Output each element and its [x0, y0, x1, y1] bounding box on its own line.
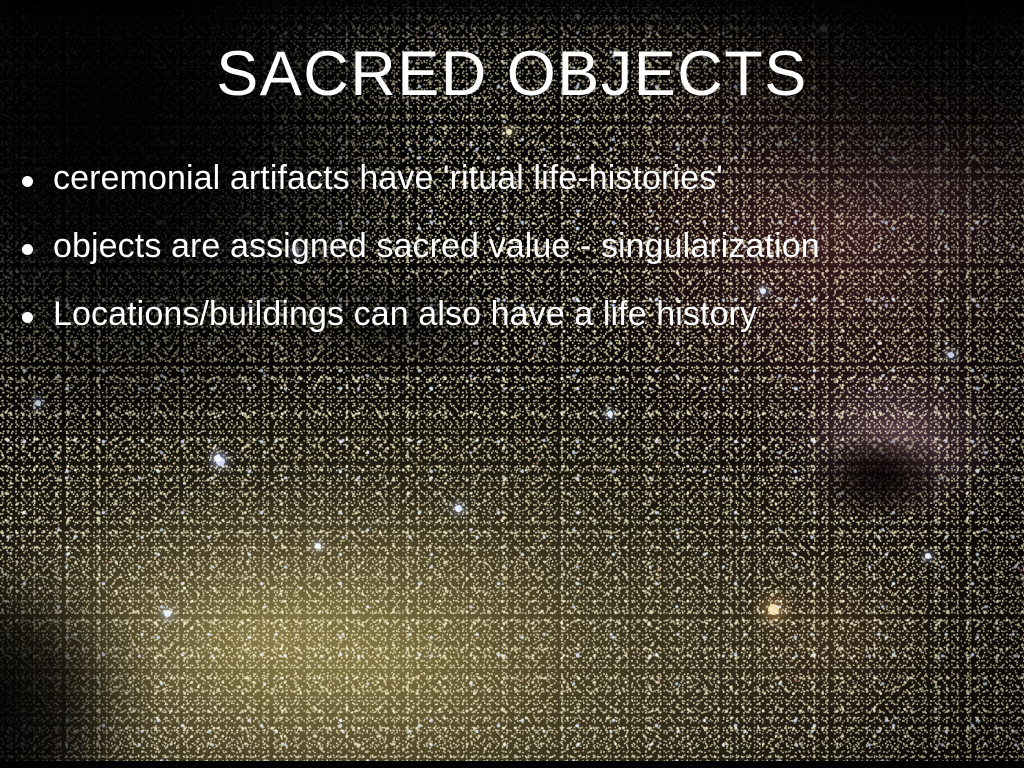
bullet-item-label: ceremonial artifacts have 'ritual life-h… [53, 158, 723, 199]
bullet-dot-icon [22, 244, 33, 255]
bullet-list-item: objects are assigned sacred value - sing… [0, 226, 1024, 294]
bullet-list: ceremonial artifacts have 'ritual life-h… [0, 158, 1024, 362]
presentation-slide: SACRED OBJECTS ceremonial artifacts have… [0, 0, 1024, 768]
bullet-list-item: ceremonial artifacts have 'ritual life-h… [0, 158, 1024, 226]
bullet-item-label: objects are assigned sacred value - sing… [53, 226, 820, 267]
slide-content: SACRED OBJECTS ceremonial artifacts have… [0, 0, 1024, 768]
bullet-list-item: Locations/buildings can also have a life… [0, 294, 1024, 362]
slide-title: SACRED OBJECTS [0, 42, 1024, 106]
bullet-item-label: Locations/buildings can also have a life… [53, 294, 757, 335]
bullet-dot-icon [22, 312, 33, 323]
bullet-dot-icon [22, 176, 33, 187]
